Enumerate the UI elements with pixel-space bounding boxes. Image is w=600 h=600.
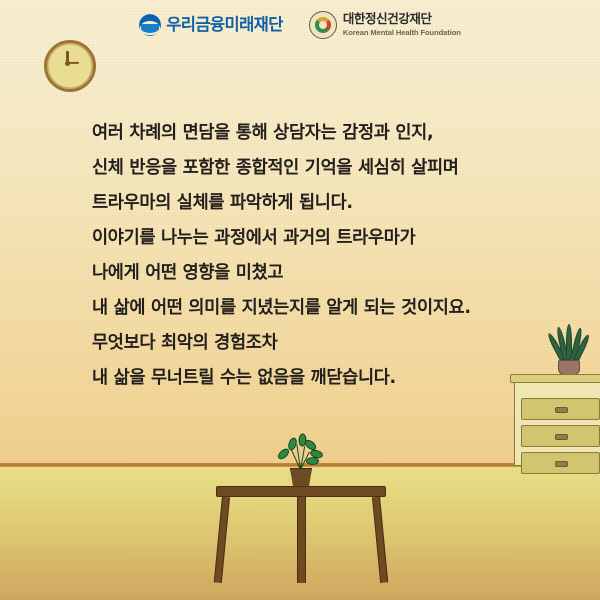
kmhf-seal-emblem: [315, 17, 331, 33]
drawer-knob-icon: [555, 461, 568, 467]
copy-line-1: 여러 차례의 면담을 통해 상담자는 감정과 인지,: [92, 116, 512, 151]
plant-leaf-6: [306, 456, 320, 466]
table-top-surface: [216, 486, 386, 497]
three-drawer-dresser: [510, 374, 600, 466]
card-slide: 우리금융미래재단 대한정신건강재단 Korean Mental Health F…: [0, 0, 600, 600]
table-leg-left: [214, 497, 230, 583]
logo-korean-mental-health-foundation: 대한정신건강재단 Korean Mental Health Foundation: [309, 11, 461, 39]
kmhf-seal-icon: [309, 11, 337, 39]
copy-line-4: 이야기를 나누는 과정에서 과거의 트라우마가: [92, 221, 512, 256]
potted-leafy-plant-icon: [272, 436, 328, 488]
woori-wave-shape: [141, 24, 159, 33]
copy-line-6: 내 삶에 어떤 의미를 지녔는지를 알게 되는 것이지요.: [92, 291, 512, 326]
snake-plant-pot: [558, 360, 580, 375]
drawer-knob-icon: [555, 407, 568, 413]
dresser-top-surface: [510, 374, 600, 383]
plant-pot: [290, 468, 312, 487]
dresser-drawer-2: [521, 425, 600, 447]
kmhf-label-en: Korean Mental Health Foundation: [343, 29, 461, 37]
copy-line-5: 나에게 어떤 영향을 미쳤고: [92, 256, 512, 291]
copy-line-7: 무엇보다 최악의 경험조차: [92, 326, 512, 361]
logo-woori-financial-future-foundation: 우리금융미래재단: [139, 14, 283, 36]
header-logo-bar: 우리금융미래재단 대한정신건강재단 Korean Mental Health F…: [0, 8, 600, 42]
body-copy: 여러 차례의 면담을 통해 상담자는 감정과 인지, 신체 반응을 포함한 종합…: [92, 116, 512, 396]
table-leg-right: [372, 497, 388, 583]
wall-clock-icon: [44, 40, 96, 92]
copy-line-8: 내 삶을 무너트릴 수는 없음을 깨닫습니다.: [92, 361, 512, 396]
drawer-knob-icon: [555, 434, 568, 440]
copy-line-3: 트라우마의 실체를 파악하게 됩니다.: [92, 186, 512, 221]
clock-center-pin: [65, 61, 70, 66]
dresser-drawer-3: [521, 452, 600, 474]
kmhf-label-kr: 대한정신건강재단: [343, 13, 461, 26]
logo-woori-label: 우리금융미래재단: [166, 17, 283, 34]
wooden-side-table: [206, 486, 396, 584]
woori-wave-icon: [139, 14, 161, 36]
snake-plant-icon: [548, 326, 590, 376]
dresser-body: [514, 383, 600, 466]
table-leg-center: [297, 497, 306, 583]
kmhf-label-group: 대한정신건강재단 Korean Mental Health Foundation: [343, 13, 461, 36]
dresser-drawer-1: [521, 398, 600, 420]
copy-line-2: 신체 반응을 포함한 종합적인 기억을 세심히 살피며: [92, 151, 512, 186]
